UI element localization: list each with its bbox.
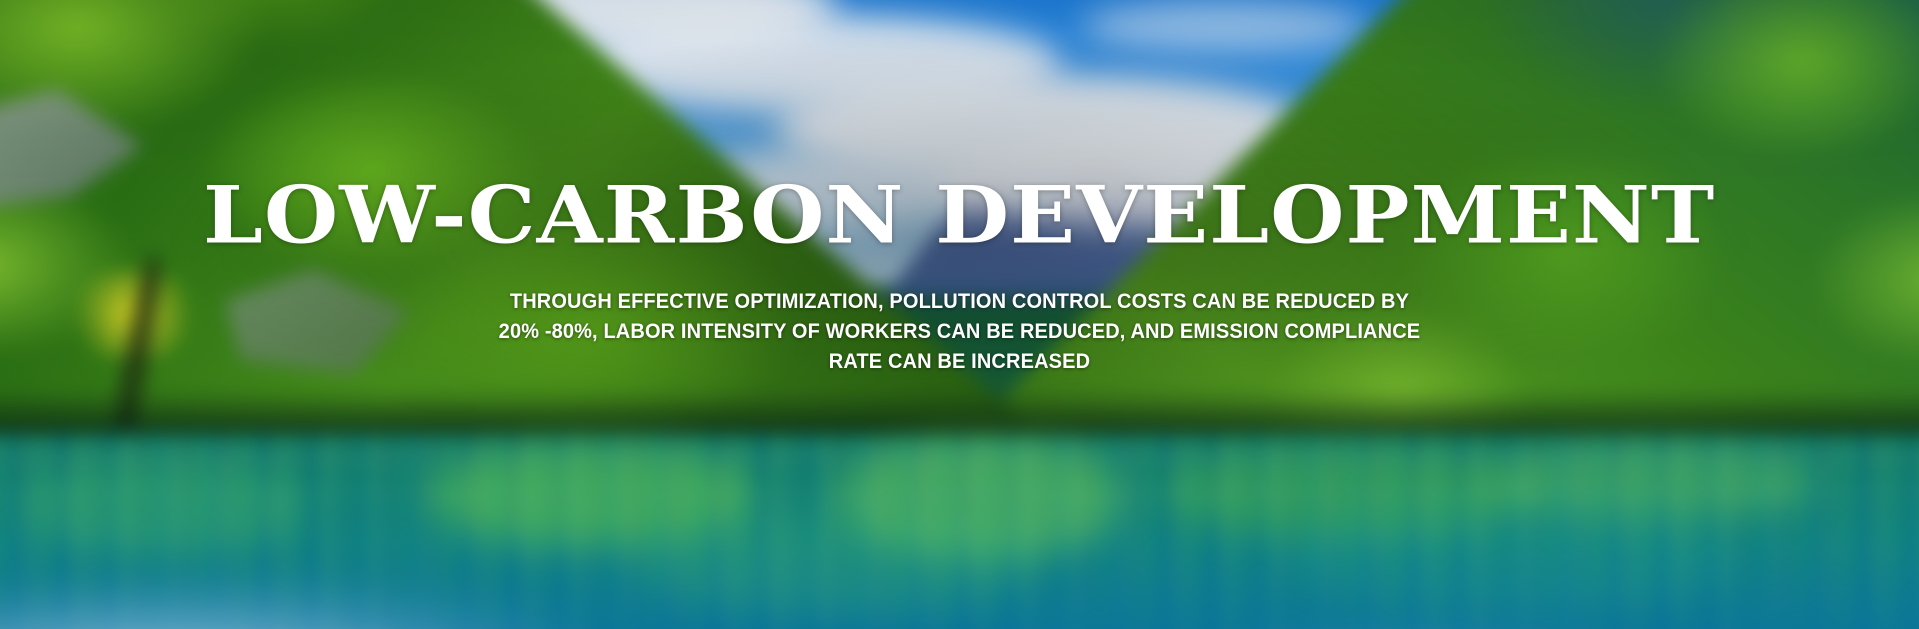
banner-subtitle: THROUGH EFFECTIVE OPTIMIZATION, POLLUTIO… [499, 252, 1421, 376]
banner-subtitle-line-2: 20% -80%, LABOR INTENSITY OF WORKERS CAN… [499, 316, 1421, 346]
banner-subtitle-line-1: THROUGH EFFECTIVE OPTIMIZATION, POLLUTIO… [499, 286, 1421, 316]
banner-subtitle-line-3: RATE CAN BE INCREASED [499, 346, 1421, 376]
banner-text-overlay: LOW-CARBON DEVELOPMENT THROUGH EFFECTIVE… [0, 0, 1919, 629]
hero-banner: LOW-CARBON DEVELOPMENT THROUGH EFFECTIVE… [0, 0, 1919, 629]
banner-title: LOW-CARBON DEVELOPMENT [203, 176, 1715, 255]
